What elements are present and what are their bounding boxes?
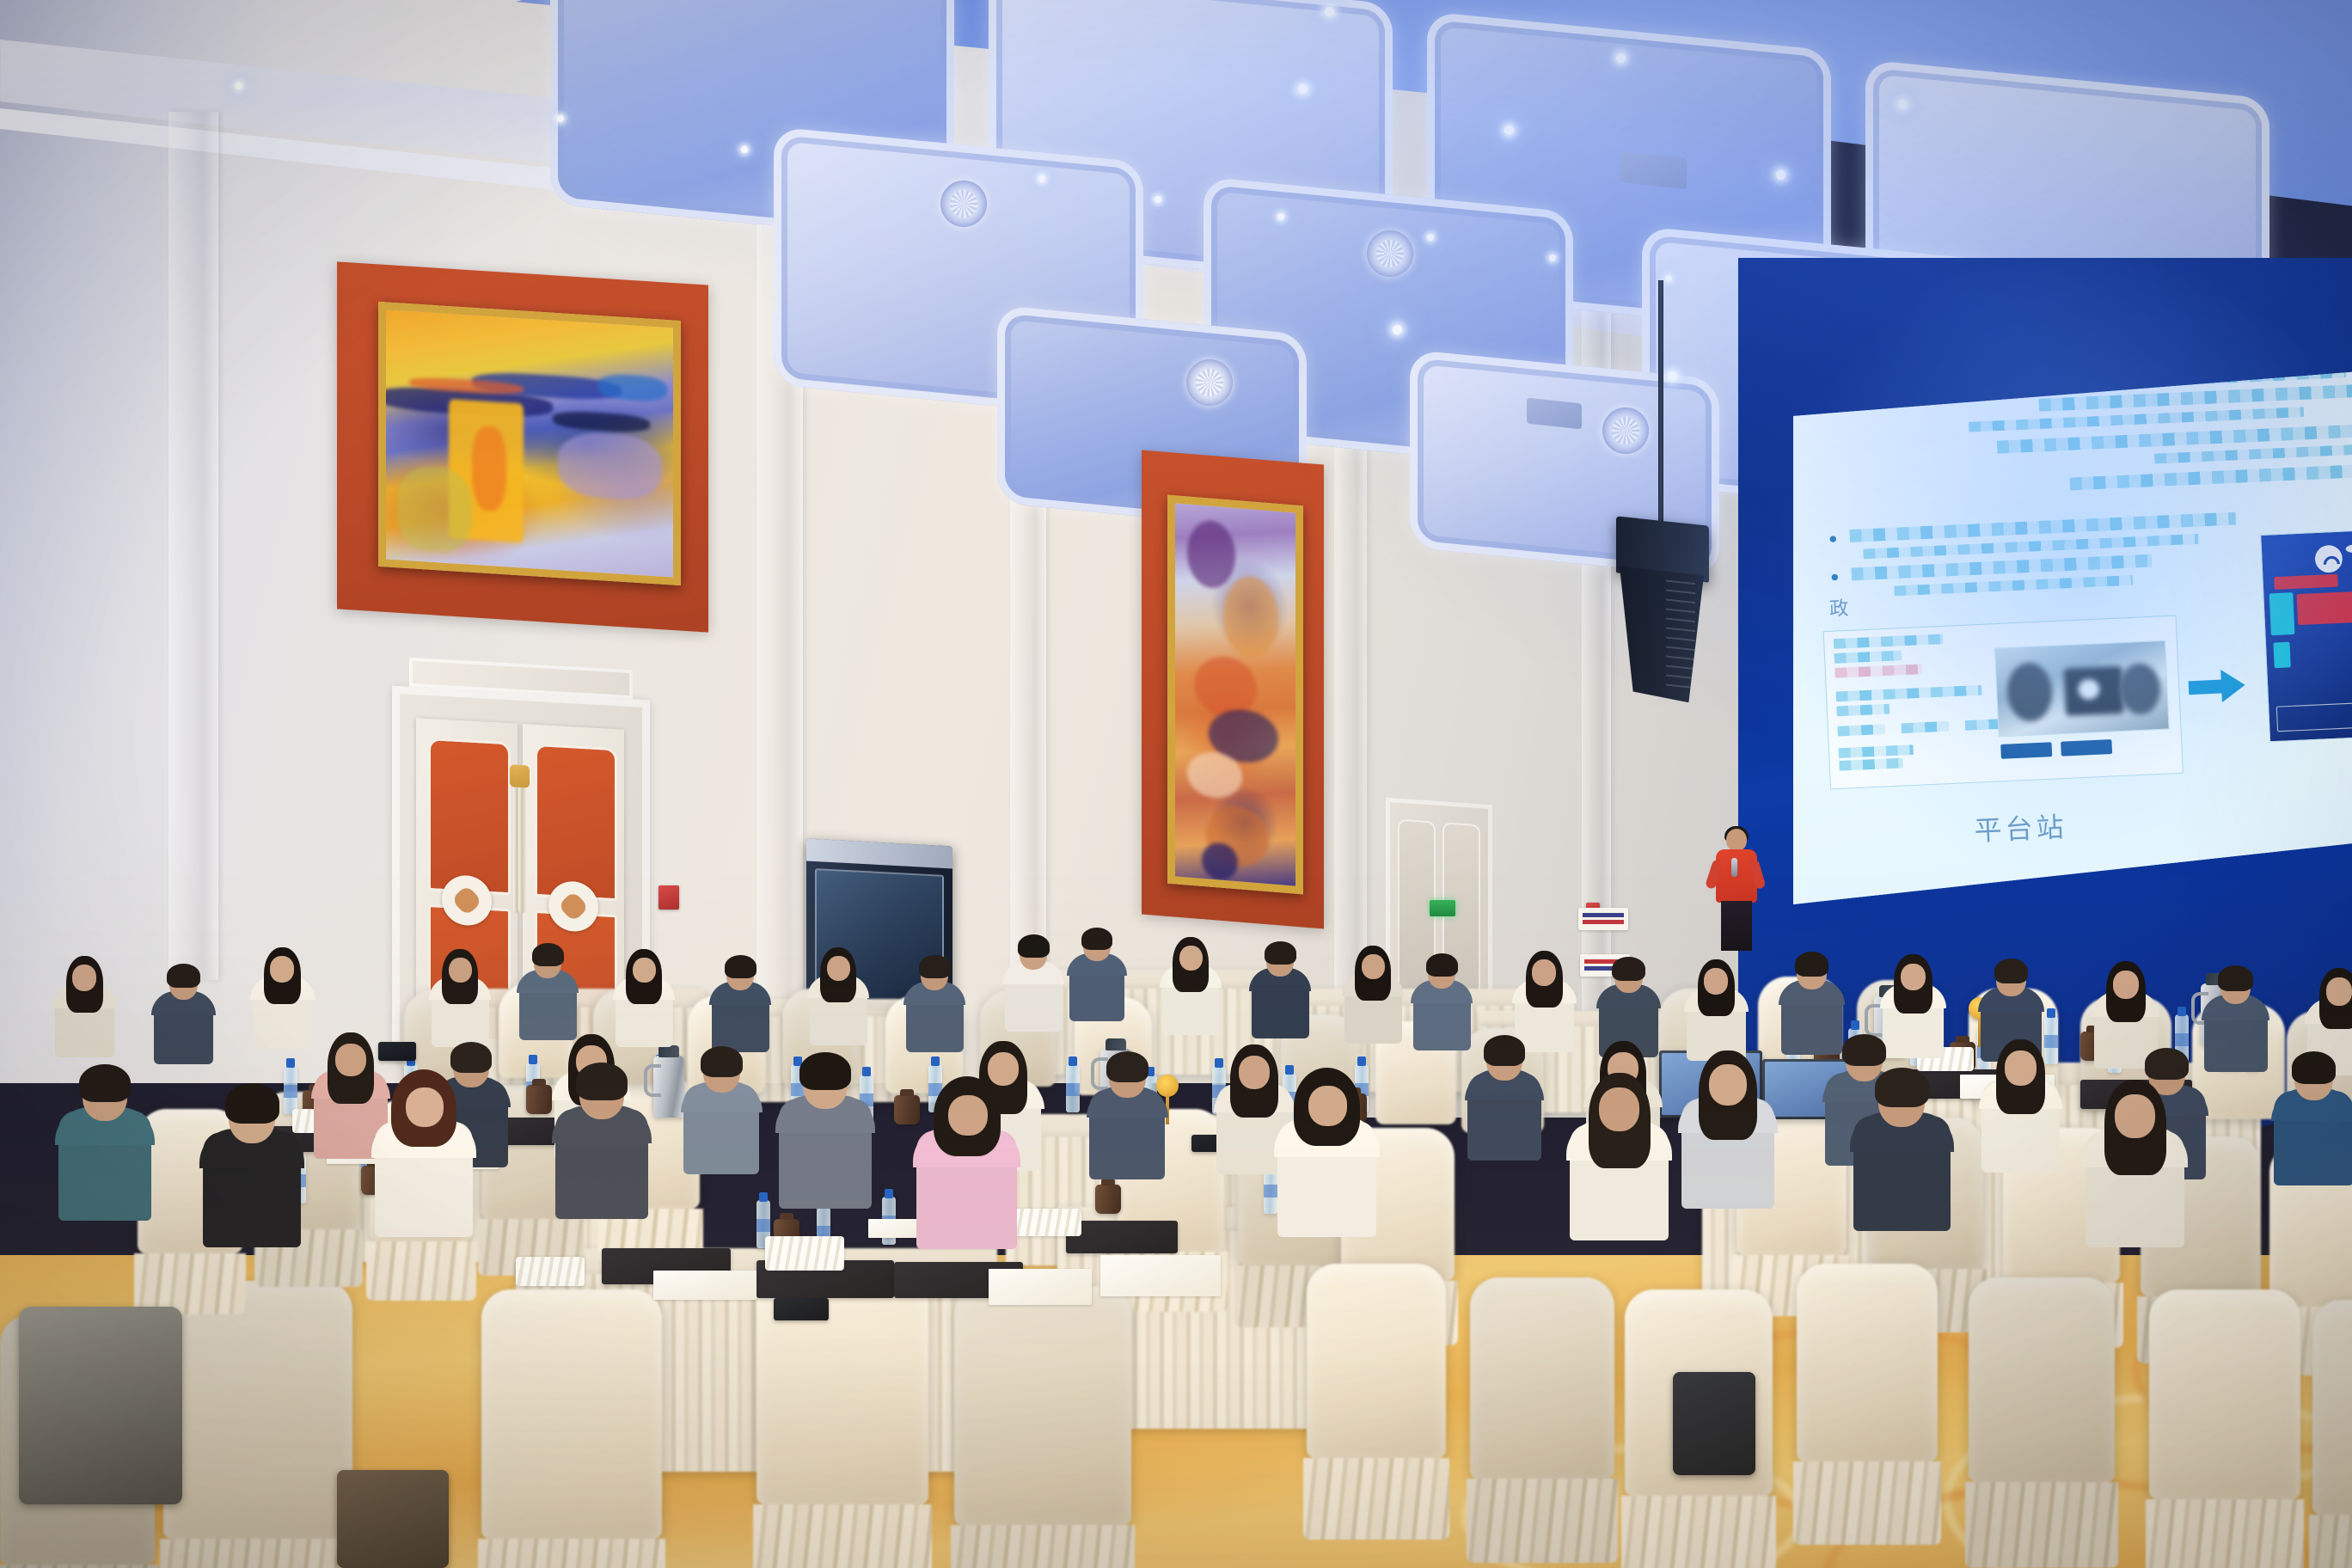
- speaker-grill: [1666, 580, 1695, 695]
- person-hair: [1484, 1035, 1525, 1065]
- chair-skirt: [366, 1241, 476, 1301]
- person-face: [1901, 964, 1926, 991]
- banquet-chair: [1969, 1277, 2115, 1482]
- ceiling-rosette: [940, 181, 987, 227]
- presentation-slide: 政: [1793, 371, 2352, 904]
- audience-member: [1341, 942, 1405, 1044]
- bottle-label: [756, 1219, 770, 1232]
- audience-member: [1676, 1045, 1779, 1209]
- chair-skirt: [1467, 1479, 1618, 1563]
- smartphone: [774, 1298, 829, 1320]
- person-hair: [1081, 928, 1112, 950]
- banquet-chair: [954, 1286, 1131, 1525]
- slide-phone-mockup: [2260, 530, 2352, 742]
- cornice-downlight: [1038, 175, 1045, 182]
- audience-member: [911, 1073, 1023, 1249]
- cornice-downlight: [1277, 213, 1284, 220]
- person-hair: [725, 955, 756, 978]
- audience-member: [198, 1076, 306, 1248]
- abstract-vertical-painting: [1175, 503, 1295, 885]
- abstract-landscape-painting: [386, 309, 673, 577]
- audience-member: [708, 951, 772, 1052]
- cornice-downlight: [1155, 196, 1161, 203]
- chair-skirt: [1303, 1458, 1449, 1540]
- clay-teapot: [1095, 1185, 1121, 1214]
- audience-member: [679, 1040, 763, 1174]
- person-face: [72, 965, 96, 991]
- person-face: [2113, 971, 2139, 999]
- person-hair: [79, 1064, 131, 1102]
- person-face: [948, 1095, 987, 1136]
- ceiling-downlight: [1616, 53, 1626, 63]
- slide-thumbnail-photo: [1994, 640, 2170, 738]
- audience-member: [1463, 1030, 1546, 1161]
- person-face: [1308, 1086, 1347, 1126]
- audience-member: [52, 952, 118, 1057]
- person-hair: [1265, 941, 1296, 965]
- ceiling-rosette: [1602, 407, 1649, 454]
- handheld-microphone: [1731, 858, 1737, 877]
- handout-paper: [989, 1269, 1092, 1305]
- folded-napkin: [765, 1236, 844, 1271]
- audience-member: [370, 1066, 478, 1238]
- cornice-downlight: [741, 146, 748, 153]
- person-face: [1239, 1056, 1270, 1089]
- person-face: [270, 956, 294, 983]
- chair-skirt: [753, 1504, 932, 1568]
- person-face: [827, 956, 850, 982]
- person-face: [335, 1044, 365, 1076]
- audience-member: [428, 946, 492, 1047]
- chair-skirt: [1793, 1461, 1941, 1545]
- person-face: [633, 958, 656, 983]
- door-panel: [428, 738, 511, 895]
- cornice-downlight: [1427, 234, 1434, 241]
- audience-member: [1248, 937, 1312, 1038]
- audience-member: [1159, 934, 1222, 1035]
- chair-skirt: [2146, 1499, 2304, 1568]
- projection-screen: 政: [1793, 371, 2352, 904]
- chair-skirt: [0, 1565, 158, 1568]
- person-face: [1599, 1087, 1639, 1131]
- audience-member: [1085, 1045, 1169, 1179]
- thermos-cap: [658, 1045, 679, 1057]
- cornice-downlight: [1549, 254, 1556, 261]
- slide-button: [2000, 742, 2052, 759]
- handbag: [1673, 1372, 1755, 1475]
- audience-member: [2080, 1075, 2190, 1247]
- audience-member: [150, 959, 217, 1064]
- person-hair: [1106, 1051, 1148, 1082]
- person-face: [449, 958, 472, 983]
- person-hair: [167, 964, 199, 988]
- folded-napkin: [516, 1257, 585, 1286]
- audience-member: [550, 1056, 653, 1219]
- person-hair: [701, 1046, 743, 1077]
- handout-paper: [653, 1271, 756, 1300]
- banquet-chair: [163, 1281, 352, 1539]
- audience-member: [1565, 1068, 1674, 1240]
- person-hair: [576, 1063, 628, 1100]
- person-face: [1362, 954, 1385, 980]
- ceiling-downlight: [1393, 325, 1402, 334]
- person-hair: [799, 1052, 851, 1090]
- painting-frame-landscape: [378, 302, 681, 585]
- person-hair: [532, 943, 564, 966]
- clay-teapot: [526, 1085, 552, 1114]
- person-face: [1179, 946, 1203, 971]
- ceiling-downlight: [1298, 84, 1308, 94]
- presenter-skirt: [1721, 901, 1752, 951]
- conference-hall-photo: 政: [0, 0, 2352, 1568]
- chair-skirt: [1965, 1482, 2118, 1568]
- chair-skirt: [951, 1525, 1135, 1568]
- door-panel: [535, 744, 617, 901]
- fire-alarm-box: [658, 885, 679, 910]
- cornice-downlight: [557, 115, 564, 122]
- cornice-downlight: [1665, 275, 1672, 282]
- person-hair: [919, 955, 951, 978]
- chair-skirt: [134, 1253, 246, 1314]
- bottle-label: [1066, 1083, 1080, 1096]
- ceiling-downlight: [1668, 371, 1677, 381]
- ceiling-downlight: [1776, 170, 1785, 180]
- chair-skirt: [478, 1539, 665, 1568]
- exit-sign: [1430, 900, 1455, 916]
- audience-member: [903, 951, 966, 1052]
- person-hair: [1795, 952, 1829, 977]
- handbag: [337, 1470, 449, 1568]
- banquet-chair: [481, 1289, 662, 1539]
- banquet-chair: [1307, 1264, 1446, 1458]
- audience-member: [1848, 1061, 1956, 1231]
- backpack: [19, 1307, 182, 1504]
- ceiling-downlight: [1898, 100, 1908, 109]
- audience-member: [2201, 961, 2271, 1072]
- door-handle[interactable]: [518, 784, 526, 914]
- person-face: [1704, 968, 1728, 995]
- banquet-chair: [2312, 1300, 2352, 1515]
- slide-subheading: 政: [1828, 593, 1853, 622]
- audience-member: [2269, 1045, 2352, 1185]
- audience-member: [806, 944, 870, 1045]
- person-face: [1532, 959, 1556, 986]
- person-hair: [1994, 959, 2029, 983]
- presenter-head: [1726, 829, 1747, 851]
- ceiling-rosette: [1186, 359, 1233, 406]
- person-hair: [2218, 965, 2253, 991]
- person-hair: [1426, 953, 1458, 977]
- person-face: [2005, 1050, 2037, 1085]
- audience-member: [516, 939, 579, 1040]
- chair-skirt: [160, 1539, 356, 1568]
- cornice-downlight: [236, 83, 242, 89]
- ceiling-downlight: [1504, 126, 1514, 135]
- banquet-chair: [2149, 1289, 2300, 1499]
- banquet-chair: [1470, 1277, 1614, 1479]
- chair-skirt: [2309, 1515, 2352, 1568]
- audience-member: [249, 944, 315, 1049]
- person-hair: [1612, 957, 1645, 981]
- folded-napkin: [1014, 1209, 1081, 1236]
- audience-member: [1001, 930, 1065, 1032]
- wall-notice: [1578, 908, 1628, 930]
- person-hair: [1875, 1068, 1928, 1107]
- chair-skirt: [1621, 1496, 1776, 1568]
- person-face: [1709, 1064, 1747, 1106]
- water-bottle: [1066, 1064, 1080, 1112]
- ceiling-rosette: [1367, 230, 1413, 277]
- presenter-figure: [1712, 829, 1761, 947]
- wifi-icon: [2314, 545, 2343, 573]
- person-hair: [2292, 1051, 2337, 1084]
- slide-button: [2061, 739, 2112, 756]
- audience-member: [1272, 1064, 1381, 1237]
- audience-member: [774, 1045, 877, 1209]
- handout-paper: [1100, 1255, 1221, 1296]
- banquet-chair: [1797, 1264, 1938, 1461]
- person-face: [2326, 977, 2352, 1006]
- ceiling-downlight: [1325, 7, 1334, 16]
- slide-screenshot-card: [1823, 616, 2184, 790]
- speaker-suspension-pole: [1658, 280, 1663, 531]
- wall-pilaster: [168, 112, 218, 980]
- person-face: [2115, 1094, 2155, 1138]
- person-hair: [225, 1083, 279, 1123]
- audience-member: [1977, 1035, 2064, 1173]
- painting-frame-vertical: [1167, 495, 1303, 895]
- leather-padfolio: [1066, 1221, 1178, 1253]
- slide-caption: 平台站: [1974, 805, 2068, 848]
- audience-member: [53, 1057, 156, 1221]
- audience-member: [1066, 923, 1128, 1021]
- person-hair: [1018, 934, 1050, 958]
- arrow-right-icon: [2188, 669, 2245, 704]
- person-face: [406, 1087, 444, 1127]
